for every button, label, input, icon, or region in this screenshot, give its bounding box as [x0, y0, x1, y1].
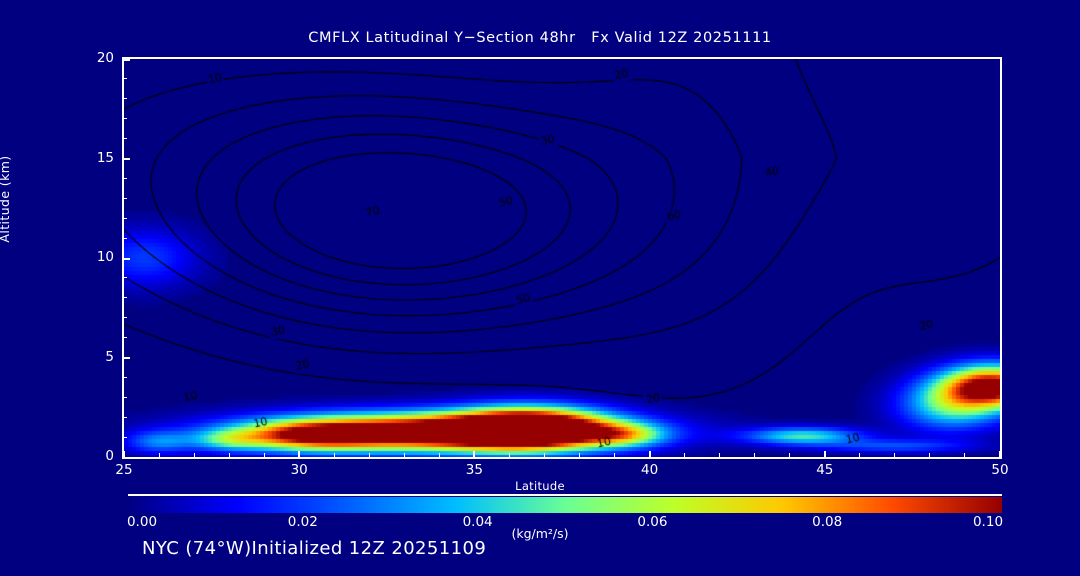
y-minor-tick: [122, 138, 127, 139]
y-major-tick: [122, 158, 130, 160]
x-tick-label: 25: [84, 462, 164, 478]
colorbar-tick-label: 0.02: [288, 514, 318, 530]
y-major-tick: [122, 258, 130, 260]
x-minor-tick: [719, 453, 720, 459]
y-minor-tick: [122, 297, 127, 298]
y-minor-tick: [122, 218, 127, 219]
x-major-tick: [298, 451, 300, 459]
x-major-tick: [999, 451, 1001, 459]
y-major-tick: [122, 357, 130, 359]
y-minor-tick: [122, 78, 127, 79]
footer-init-label: NYC (74°W)Initialized 12Z 20251109: [142, 538, 486, 559]
figure-canvas: CMFLX Latitudinal Y−Section 48hr Fx Vali…: [0, 0, 1080, 576]
x-minor-tick: [929, 453, 930, 459]
x-minor-tick: [684, 453, 685, 459]
x-minor-tick: [334, 453, 335, 459]
y-minor-tick: [122, 317, 127, 318]
y-minor-tick: [122, 437, 127, 438]
x-minor-tick: [614, 453, 615, 459]
colorbar-gradient: [128, 497, 1002, 513]
x-major-tick: [649, 451, 651, 459]
x-minor-tick: [159, 453, 160, 459]
colorbar-tick-label: 0.08: [812, 514, 842, 530]
x-minor-tick: [229, 453, 230, 459]
x-axis-label: Latitude: [0, 479, 1080, 493]
x-tick-label: 50: [960, 462, 1040, 478]
x-minor-tick: [264, 453, 265, 459]
y-minor-tick: [122, 238, 127, 239]
x-minor-tick: [194, 453, 195, 459]
x-major-tick: [824, 451, 826, 459]
x-minor-tick: [894, 453, 895, 459]
y-axis-label: Altitude (km): [0, 139, 12, 259]
x-tick-label: 35: [434, 462, 514, 478]
y-tick-label: 5: [44, 349, 114, 365]
x-minor-tick: [404, 453, 405, 459]
y-major-tick: [122, 59, 130, 61]
shaded-field-heatmap: [124, 59, 1000, 457]
x-minor-tick: [859, 453, 860, 459]
x-minor-tick: [579, 453, 580, 459]
y-minor-tick: [122, 397, 127, 398]
colorbar[interactable]: [128, 497, 1002, 513]
x-tick-label: 40: [610, 462, 690, 478]
plot-area: [122, 57, 1002, 459]
y-tick-label: 20: [44, 50, 114, 66]
y-minor-tick: [122, 118, 127, 119]
y-tick-label: 15: [44, 150, 114, 166]
y-minor-tick: [122, 98, 127, 99]
colorbar-tick-label: 0.06: [637, 514, 667, 530]
y-minor-tick: [122, 377, 127, 378]
colorbar-tick-label: 0.10: [973, 514, 1003, 530]
x-tick-label: 45: [785, 462, 865, 478]
y-minor-tick: [122, 198, 127, 199]
x-tick-label: 30: [259, 462, 339, 478]
colorbar-tick-label: 0.00: [127, 514, 157, 530]
x-minor-tick: [789, 453, 790, 459]
y-minor-tick: [122, 337, 127, 338]
y-minor-tick: [122, 277, 127, 278]
x-minor-tick: [369, 453, 370, 459]
x-major-tick: [123, 451, 125, 459]
x-minor-tick: [439, 453, 440, 459]
colorbar-top-rule: [128, 494, 1002, 496]
y-minor-tick: [122, 178, 127, 179]
x-minor-tick: [509, 453, 510, 459]
y-axis-label-wrapper: Altitude (km): [0, 139, 17, 259]
x-minor-tick: [754, 453, 755, 459]
chart-title: CMFLX Latitudinal Y−Section 48hr Fx Vali…: [0, 30, 1080, 46]
x-minor-tick: [544, 453, 545, 459]
y-minor-tick: [122, 417, 127, 418]
colorbar-tick-label: 0.04: [463, 514, 493, 530]
x-major-tick: [473, 451, 475, 459]
x-minor-tick: [964, 453, 965, 459]
y-tick-label: 10: [44, 249, 114, 265]
